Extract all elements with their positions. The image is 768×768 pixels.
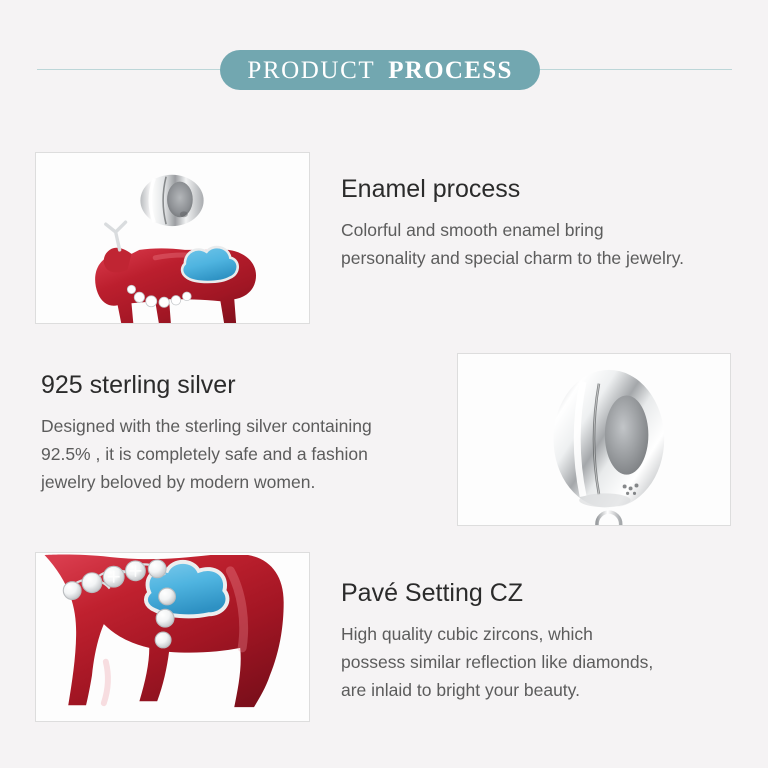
page-title-badge: PRODUCT PROCESS xyxy=(220,50,540,90)
header-rule-left xyxy=(37,69,225,70)
photo-pave xyxy=(35,552,310,722)
text-silver: 925 sterling silver Designed with the st… xyxy=(41,372,461,496)
photo-enamel xyxy=(35,152,310,324)
section-desc-line: Colorful and smooth enamel bring xyxy=(341,216,761,244)
section-desc-line: Designed with the sterling silver contai… xyxy=(41,412,461,440)
section-title: 925 sterling silver xyxy=(41,372,461,400)
badge-word-process: PROCESS xyxy=(388,58,512,83)
section-desc-line: High quality cubic zircons, which xyxy=(341,620,761,648)
section-desc-line: personality and special charm to the jew… xyxy=(341,244,761,272)
section-title: Enamel process xyxy=(341,176,761,204)
section-title: Pavé Setting CZ xyxy=(341,580,761,608)
header-rule-right xyxy=(540,69,732,70)
page-header: PRODUCT PROCESS xyxy=(0,50,768,90)
section-desc-line: 92.5% , it is completely safe and a fash… xyxy=(41,440,461,468)
silver-bail-bead-illustration xyxy=(458,354,730,525)
badge-word-product: PRODUCT xyxy=(247,58,375,83)
text-pave: Pavé Setting CZ High quality cubic zirco… xyxy=(341,580,761,704)
section-desc-line: are inlaid to bright your beauty. xyxy=(341,676,761,704)
pave-cz-closeup-illustration xyxy=(36,553,309,721)
section-desc-line: jewelry beloved by modern women. xyxy=(41,468,461,496)
photo-silver xyxy=(457,353,731,526)
reindeer-dangle-charm-illustration xyxy=(36,153,309,323)
text-enamel: Enamel process Colorful and smooth ename… xyxy=(341,176,761,272)
section-desc-line: possess similar reflection like diamonds… xyxy=(341,648,761,676)
